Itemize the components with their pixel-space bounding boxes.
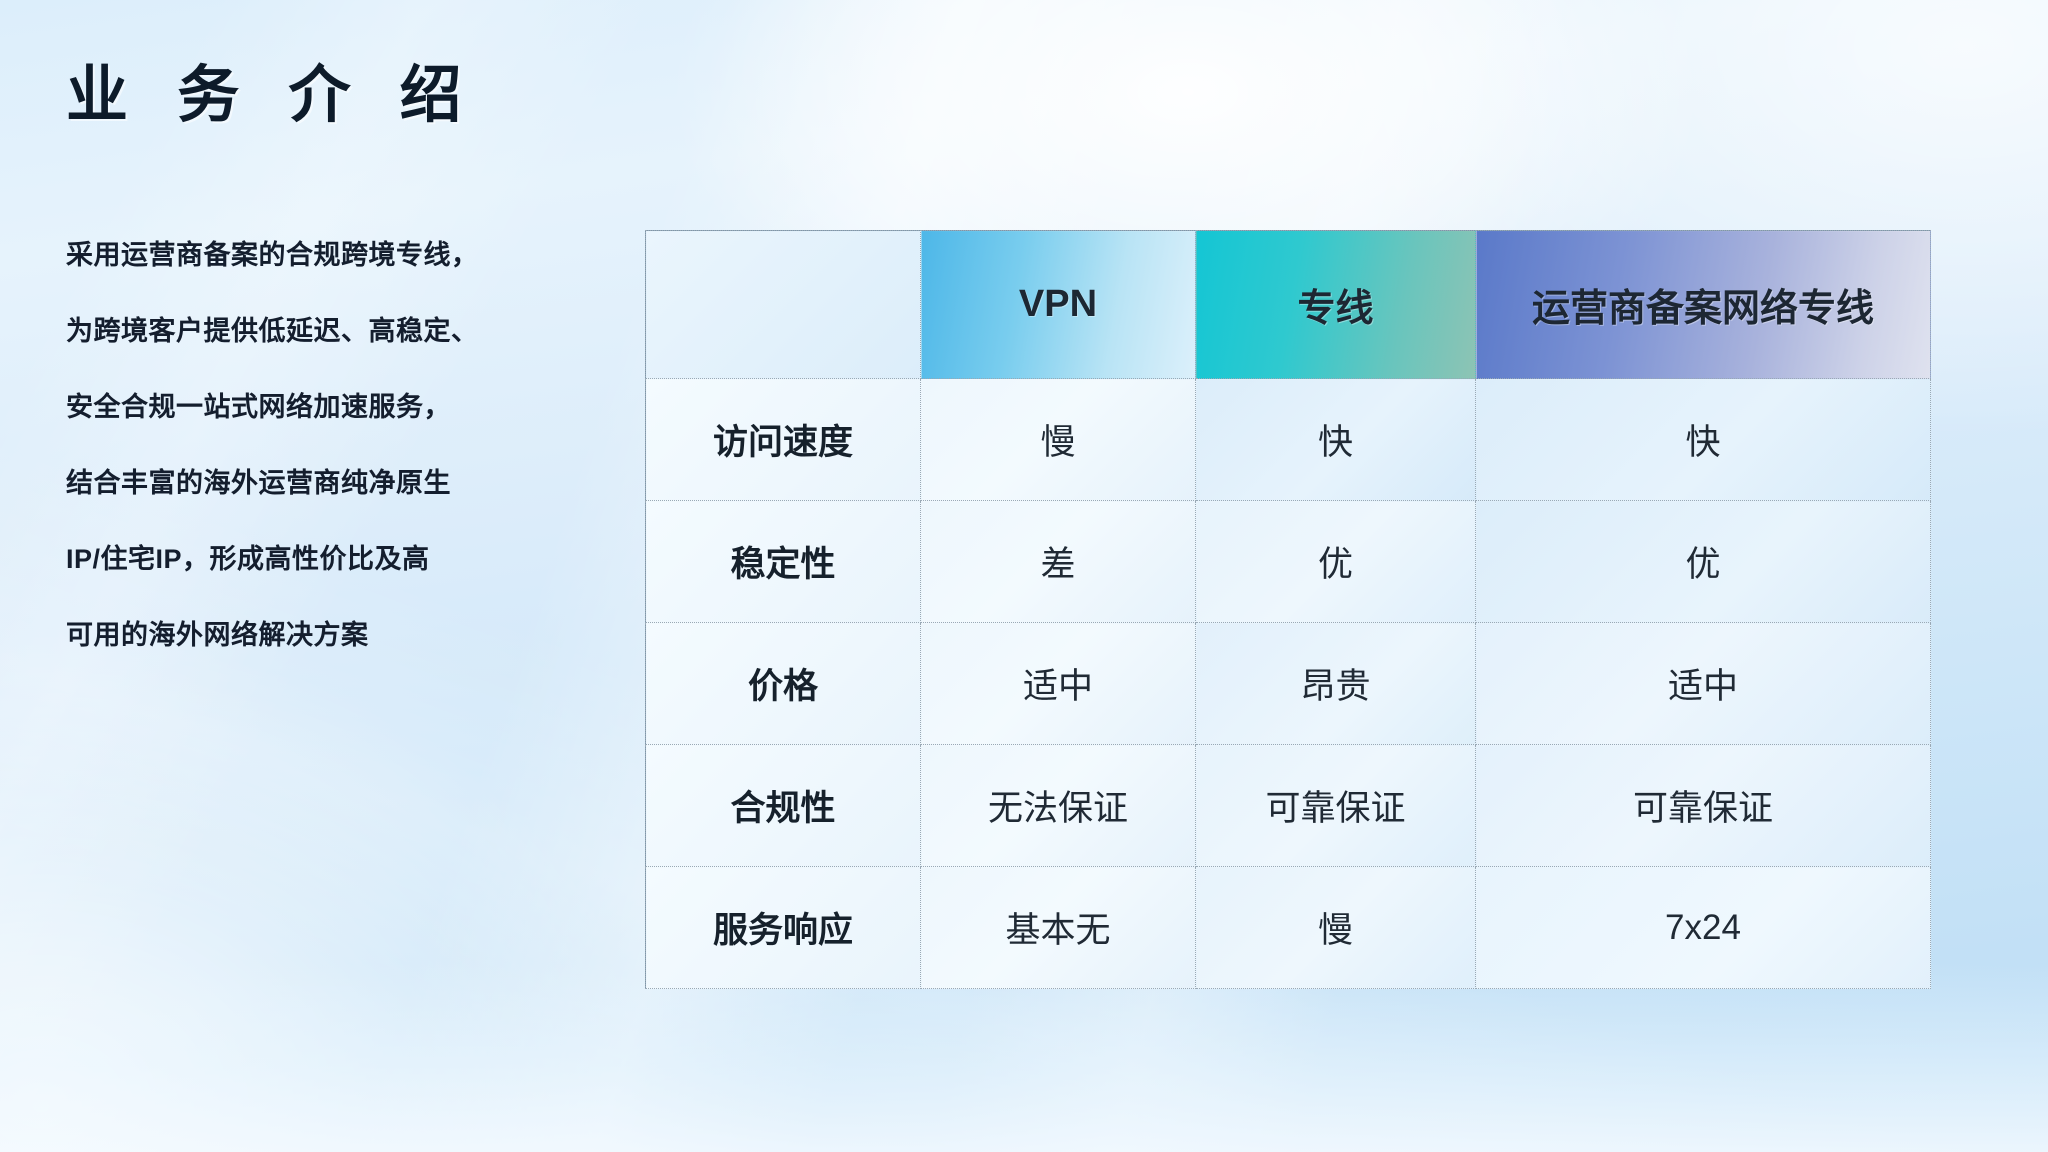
table-row: 服务响应 基本无 慢 7x24 bbox=[646, 867, 1931, 989]
table-header: VPN 专线 运营商备案网络专线 bbox=[646, 231, 1931, 379]
cell-operator-line: 适中 bbox=[1476, 623, 1931, 745]
cell-vpn: 适中 bbox=[921, 623, 1196, 745]
intro-line: 为跨境客户提供低延迟、高稳定、 bbox=[66, 318, 636, 345]
cell-leased-line: 快 bbox=[1196, 379, 1476, 501]
intro-line: 安全合规一站式网络加速服务， bbox=[66, 394, 636, 421]
background-bottom-glow bbox=[0, 962, 2048, 1152]
column-header-operator-registered-line: 运营商备案网络专线 bbox=[1476, 231, 1931, 379]
page-title: 业 务 介 绍 bbox=[66, 62, 478, 130]
cell-leased-line: 优 bbox=[1196, 501, 1476, 623]
cell-operator-line: 可靠保证 bbox=[1476, 745, 1931, 867]
intro-line: 结合丰富的海外运营商纯净原生 bbox=[66, 470, 636, 497]
cell-leased-line: 昂贵 bbox=[1196, 623, 1476, 745]
column-header-blank bbox=[646, 231, 921, 379]
table-row: 价格 适中 昂贵 适中 bbox=[646, 623, 1931, 745]
cell-vpn: 无法保证 bbox=[921, 745, 1196, 867]
row-label: 服务响应 bbox=[646, 867, 921, 989]
table-body: 访问速度 慢 快 快 稳定性 差 优 优 价格 适中 昂贵 适中 合规性 无法保… bbox=[646, 379, 1931, 989]
intro-paragraph: 采用运营商备案的合规跨境专线， 为跨境客户提供低延迟、高稳定、 安全合规一站式网… bbox=[66, 242, 636, 649]
row-label: 价格 bbox=[646, 623, 921, 745]
cell-operator-line: 优 bbox=[1476, 501, 1931, 623]
comparison-table: VPN 专线 运营商备案网络专线 访问速度 慢 快 快 稳定性 差 优 优 价格… bbox=[645, 230, 1931, 989]
row-label: 合规性 bbox=[646, 745, 921, 867]
cell-vpn: 慢 bbox=[921, 379, 1196, 501]
intro-line: IP/住宅IP，形成高性价比及高 bbox=[66, 546, 636, 573]
row-label: 访问速度 bbox=[646, 379, 921, 501]
table-row: 稳定性 差 优 优 bbox=[646, 501, 1931, 623]
row-label: 稳定性 bbox=[646, 501, 921, 623]
slide-canvas: 业 务 介 绍 采用运营商备案的合规跨境专线， 为跨境客户提供低延迟、高稳定、 … bbox=[0, 0, 2048, 1152]
cell-vpn: 基本无 bbox=[921, 867, 1196, 989]
table-row: 合规性 无法保证 可靠保证 可靠保证 bbox=[646, 745, 1931, 867]
intro-line: 采用运营商备案的合规跨境专线， bbox=[66, 242, 636, 269]
table-row: 访问速度 慢 快 快 bbox=[646, 379, 1931, 501]
table-header-row: VPN 专线 运营商备案网络专线 bbox=[646, 231, 1931, 379]
cell-leased-line: 慢 bbox=[1196, 867, 1476, 989]
cell-operator-line: 7x24 bbox=[1476, 867, 1931, 989]
cell-vpn: 差 bbox=[921, 501, 1196, 623]
column-header-vpn: VPN bbox=[921, 231, 1196, 379]
cell-leased-line: 可靠保证 bbox=[1196, 745, 1476, 867]
cell-operator-line: 快 bbox=[1476, 379, 1931, 501]
column-header-leased-line: 专线 bbox=[1196, 231, 1476, 379]
intro-line: 可用的海外网络解决方案 bbox=[66, 622, 636, 649]
